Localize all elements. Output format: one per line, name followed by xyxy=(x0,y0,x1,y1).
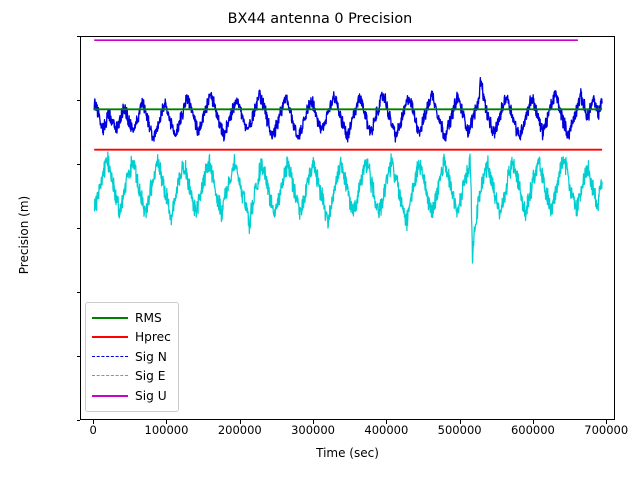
legend-swatch-icon xyxy=(92,351,128,363)
legend-item-hprec[interactable]: Hprec xyxy=(92,328,171,348)
x-tick-label: 700000 xyxy=(584,424,628,437)
legend-swatch-icon xyxy=(92,331,128,343)
legend-item-sig-n[interactable]: Sig N xyxy=(92,347,171,367)
figure: BX44 antenna 0 Precision Precision (m) T… xyxy=(0,0,640,480)
x-tick-label: 200000 xyxy=(218,424,262,437)
legend-label: RMS xyxy=(135,311,162,325)
legend-swatch-icon xyxy=(92,370,128,382)
series-sig-e xyxy=(94,152,602,263)
legend-item-sig-e[interactable]: Sig E xyxy=(92,367,171,387)
legend-label: Hprec xyxy=(135,330,171,344)
legend-item-rms[interactable]: RMS xyxy=(92,308,171,328)
legend-swatch-icon xyxy=(92,312,128,324)
x-tick-label: 400000 xyxy=(364,424,408,437)
x-tick-label: 500000 xyxy=(438,424,482,437)
x-tick-label: 100000 xyxy=(145,424,189,437)
x-tick-label: 0 xyxy=(90,424,97,437)
legend-label: Sig U xyxy=(135,389,167,403)
x-tick-label: 300000 xyxy=(291,424,335,437)
x-tick-label: 600000 xyxy=(511,424,555,437)
legend-swatch-icon xyxy=(92,390,128,402)
legend-label: Sig E xyxy=(135,369,165,383)
legend[interactable]: RMSHprecSig NSig ESig U xyxy=(85,302,179,412)
legend-item-sig-u[interactable]: Sig U xyxy=(92,386,171,406)
legend-label: Sig N xyxy=(135,350,167,364)
